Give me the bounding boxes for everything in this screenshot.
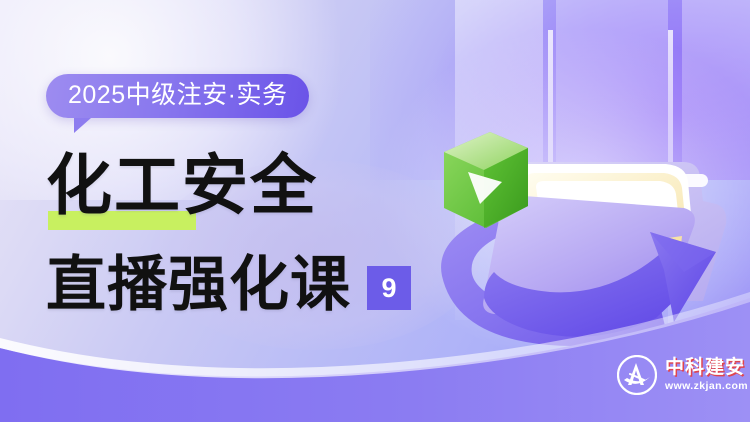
brand-url: www.zkjan.com (665, 381, 748, 392)
course-badge: 2025中级注安·实务 (46, 74, 309, 118)
headline-secondary-row: 直播强化课 9 (46, 255, 411, 315)
course-badge-wrap: 2025中级注安·实务 (46, 74, 309, 118)
course-poster: 2025中级注安·实务 化工安全 直播强化课 9 中科建安 www.zkjan.… (0, 0, 750, 422)
headline-secondary: 直播强化课 (46, 255, 351, 315)
brand-emblem-icon (617, 355, 657, 395)
headline-primary: 化工安全 (46, 152, 318, 218)
badge-tail (74, 118, 91, 133)
brand-text: 中科建安 www.zkjan.com (665, 358, 748, 392)
episode-number-badge: 9 (367, 266, 411, 310)
brand-logo: 中科建安 www.zkjan.com (617, 355, 748, 395)
brand-name-cn: 中科建安 (665, 358, 748, 377)
